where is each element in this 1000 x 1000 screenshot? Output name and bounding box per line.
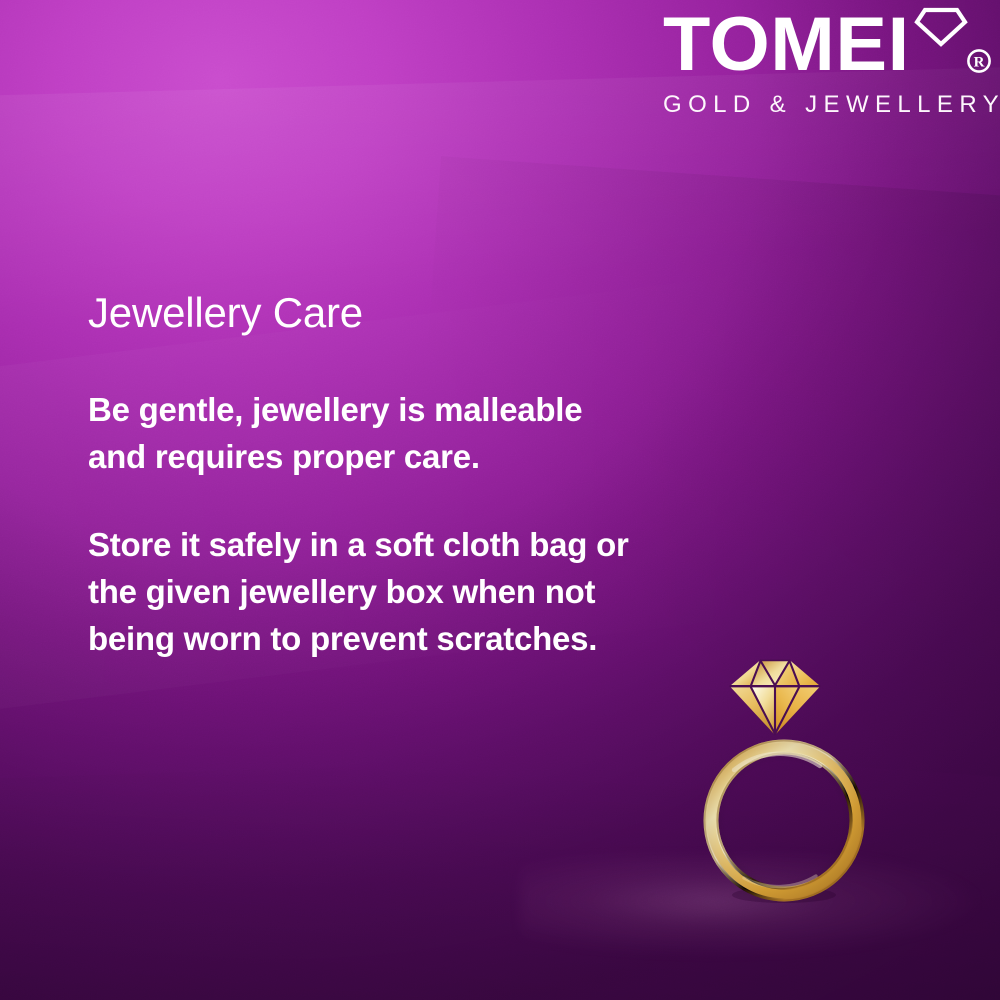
registered-trademark-icon: R	[966, 48, 992, 74]
diamond-outline-icon	[914, 7, 968, 47]
gold-ring-band-icon	[703, 740, 865, 904]
logo-tagline: GOLD & JEWELLERY	[663, 91, 983, 119]
body-paragraph-1: Be gentle, jewellery is malleable and re…	[88, 387, 648, 481]
copy-block: Jewellery Care Be gentle, jewellery is m…	[88, 291, 648, 662]
jewellery-care-graphic: TOMEI R GOLD & JEWELLERY Jewellery Care …	[0, 0, 1000, 1000]
page-title: Jewellery Care	[88, 291, 648, 335]
diamond-ring-illustration	[700, 648, 875, 910]
gold-brilliant-cut-diamond-icon	[730, 660, 820, 735]
tomei-logo[interactable]: TOMEI R GOLD & JEWELLERY	[663, 8, 983, 119]
logo-wordmark-row: TOMEI R	[663, 8, 983, 82]
logo-wordmark: TOMEI	[663, 8, 910, 82]
body-paragraph-2: Store it safely in a soft cloth bag or t…	[88, 522, 648, 663]
svg-text:R: R	[974, 55, 985, 71]
